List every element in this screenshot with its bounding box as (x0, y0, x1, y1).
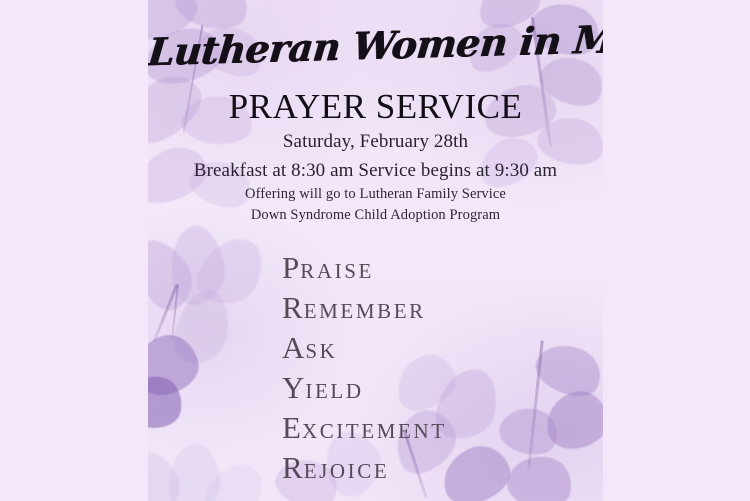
offering-program-line: Down Syndrome Child Adoption Program (148, 207, 603, 224)
page-title-serif: PRAYER SERVICE (148, 88, 603, 127)
acrostic-row-remember: REMEMBER (282, 288, 582, 328)
acrostic-rest-yield: IELD (305, 379, 363, 403)
acrostic-initial-e: E (282, 410, 302, 445)
acrostic-row-excitement: EXCITEMENT (282, 408, 582, 448)
acrostic-rest-remember: EMEMBER (304, 299, 426, 323)
acrostic-rest-excitement: XCITEMENT (302, 419, 447, 443)
offering-recipient-line: Offering will go to Lutheran Family Serv… (148, 186, 603, 203)
acrostic-rest-rejoice: EJOICE (304, 459, 390, 483)
acrostic-row-rejoice: REJOICE (282, 448, 582, 488)
acrostic-initial-r: R (282, 290, 304, 325)
prayer-service-poster: Lutheran Women in Mission PRAYER SERVICE… (0, 0, 750, 501)
artwork-panel: Lutheran Women in Mission PRAYER SERVICE… (148, 0, 603, 501)
acrostic-row-yield: YIELD (282, 368, 582, 408)
page-title-script: Lutheran Women in Mission (148, 20, 603, 73)
event-times-line: Breakfast at 8:30 am Service begins at 9… (148, 160, 603, 182)
acrostic-initial-a: A (282, 330, 305, 365)
poster-text-stack: Lutheran Women in Mission PRAYER SERVICE… (148, 0, 603, 501)
acrostic-rest-ask: SK (305, 339, 337, 363)
acrostic-rest-praise: RAISE (300, 259, 374, 283)
prayer-acrostic: PRAISE REMEMBER ASK YIELD EXCITEMENT REJ… (282, 248, 582, 488)
acrostic-initial-r2: R (282, 450, 304, 485)
acrostic-initial-p: P (282, 250, 300, 285)
event-date-line: Saturday, February 28th (148, 131, 603, 153)
acrostic-row-ask: ASK (282, 328, 582, 368)
acrostic-initial-y: Y (282, 370, 305, 405)
acrostic-row-praise: PRAISE (282, 248, 582, 288)
